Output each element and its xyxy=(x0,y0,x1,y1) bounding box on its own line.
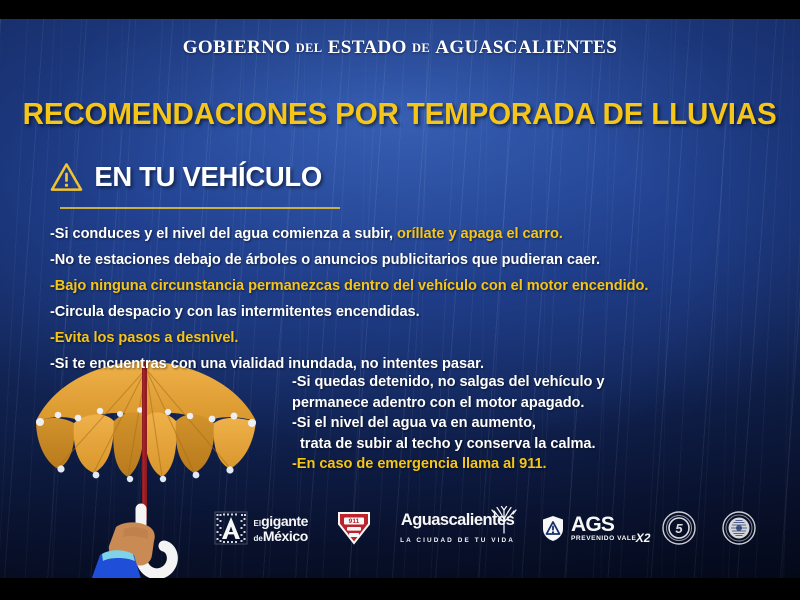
section-heading-text: EN TU VEHÍCULO xyxy=(94,161,322,193)
list-item-text: -Circula despacio y con las intermitente… xyxy=(50,304,420,320)
list-item: permanece adentro con el motor apagado. xyxy=(292,393,604,414)
list-item: -No te estaciones debajo de árboles o an… xyxy=(50,250,780,272)
prevenido-title-text: AGS xyxy=(571,514,636,535)
gov-word-aguascalientes: AGUASCALIENTES xyxy=(435,37,617,58)
list-item: -Evita los pasos a desnivel. xyxy=(50,328,780,350)
warning-triangle-icon xyxy=(50,162,83,192)
gigante-line2-small: de xyxy=(254,534,263,543)
government-header: GOBIERNO DEL ESTADO DE AGUASCALIENTES xyxy=(0,37,800,59)
poster-root: GOBIERNO DEL ESTADO DE AGUASCALIENTES RE… xyxy=(0,0,800,600)
list-item: -Bajo ninguna circunstancia permanezcas … xyxy=(50,276,780,298)
list-item-emergency: -En caso de emergencia llama al 911. xyxy=(292,454,604,475)
list-item-text: -Evita los pasos a desnivel. xyxy=(50,330,238,346)
list-item-text: -Bajo ninguna circunstancia permanezcas … xyxy=(50,278,648,294)
page-title: RECOMENDACIONES POR TEMPORADA DE LLUVIAS xyxy=(0,97,800,132)
poster-canvas: GOBIERNO DEL ESTADO DE AGUASCALIENTES RE… xyxy=(0,19,800,578)
city-tagline-text: LA CIUDAD DE TU VIDA xyxy=(400,537,515,544)
circular-seal-five-icon: 5 xyxy=(662,511,696,545)
list-item: -Si quedas detenido, no salgas del vehíc… xyxy=(292,372,604,393)
list-item: -Si el nivel del agua va en aumento, xyxy=(292,413,604,434)
gigante-line1-big: gigante xyxy=(261,513,308,529)
list-item: -Si conduces y el nivel del agua comienz… xyxy=(50,224,780,246)
logo-911-emergency-badge: 911 xyxy=(334,509,374,547)
gigante-line2-big: México xyxy=(263,528,308,544)
gigante-line1-small: El xyxy=(254,519,262,528)
secondary-recommendations-block: -Si quedas detenido, no salgas del vehíc… xyxy=(292,372,604,475)
list-item-text: -Si conduces y el nivel del agua comienz… xyxy=(50,226,397,242)
seal-number-text: 5 xyxy=(676,521,684,536)
recommendations-list: -Si conduces y el nivel del agua comienz… xyxy=(50,224,780,380)
list-item-text: -Si te encuentras con una vialidad inund… xyxy=(50,356,484,372)
logo-strip: Elgigante deMéxico 911 Aguascaliente xyxy=(0,500,800,556)
letterbox-top xyxy=(0,0,800,19)
gov-word-estado: ESTADO xyxy=(328,37,407,58)
prevenido-multiplier-text: X2 xyxy=(636,532,651,544)
list-item-text: -No te estaciones debajo de árboles o an… xyxy=(50,252,600,268)
section-underline xyxy=(60,207,340,209)
logo-aguascalientes-city: Aguascalientes LA CIUDAD DE TU VIDA xyxy=(400,512,515,544)
section-heading: EN TU VEHÍCULO xyxy=(50,161,324,193)
shield-warning-icon xyxy=(541,515,565,542)
list-item: trata de subir al techo y conserva la ca… xyxy=(292,434,604,455)
page-title-text: RECOMENDACIONES POR TEMPORADA DE LLUVIAS xyxy=(23,97,777,132)
list-item-highlight: oríllate y apaga el carro. xyxy=(397,226,563,242)
logo-el-gigante-de-mexico: Elgigante deMéxico xyxy=(214,511,309,545)
badge-number-text: 911 xyxy=(349,518,360,525)
gov-word-del: DEL xyxy=(296,41,323,55)
gov-word-de: DE xyxy=(412,41,430,55)
list-item: -Circula despacio y con las intermitente… xyxy=(50,302,780,324)
circular-seal-emblem-icon xyxy=(722,511,756,545)
emergency-diamond-icon: 911 xyxy=(334,509,374,547)
letterbox-bottom xyxy=(0,578,800,600)
gov-word-gobierno: GOBIERNO xyxy=(183,37,291,58)
prevenido-subtitle-text: PREVENIDO VALE xyxy=(571,536,636,543)
gigante-a-mark-icon xyxy=(214,511,248,545)
logo-ags-prevenido-vale: AGS PREVENIDO VALE X2 xyxy=(541,514,636,543)
tree-icon xyxy=(489,505,519,535)
